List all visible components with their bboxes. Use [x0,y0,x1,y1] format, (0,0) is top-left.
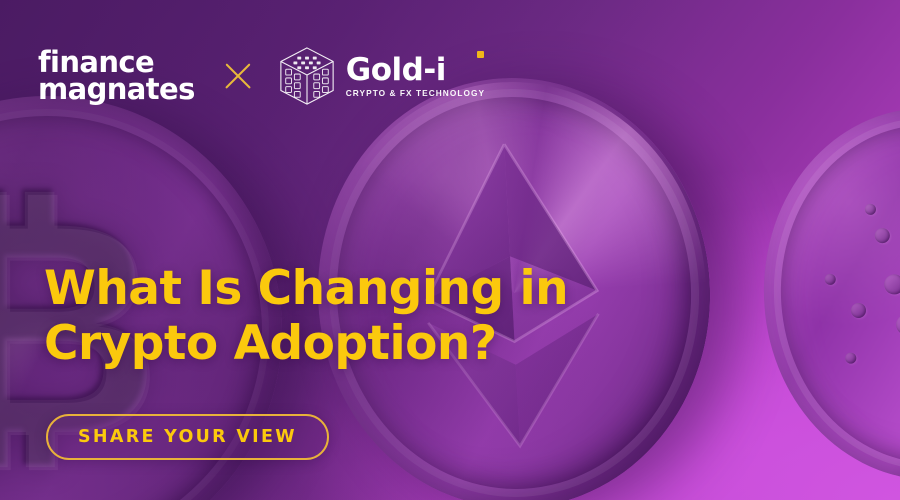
promo-banner: ₿ [0,0,900,500]
x-separator-icon [221,59,255,93]
logo-lockup: finance magnates [38,44,485,108]
cardano-dot [896,314,900,335]
finance-magnates-logo[interactable]: finance magnates [38,49,195,103]
goldi-logo[interactable]: Gold-i CRYPTO & FX TECHNOLOGY [277,45,485,107]
cardano-dot [824,274,836,286]
headline-line-1: What Is Changing in [44,262,664,317]
cardano-symbol-icon [801,157,900,430]
cardano-coin [751,97,900,491]
goldi-wordmark: Gold-i [346,55,485,86]
cardano-dot [845,352,857,364]
cardano-dot [874,228,890,244]
cardano-dot [865,204,877,216]
goldi-tagline: CRYPTO & FX TECHNOLOGY [346,88,485,98]
goldi-text-block: Gold-i CRYPTO & FX TECHNOLOGY [346,55,485,98]
cardano-dot [883,273,900,294]
share-your-view-button[interactable]: SHARE YOUR VIEW [46,414,329,460]
goldi-wordmark-text: Gold-i [346,52,446,88]
page-title: What Is Changing in Crypto Adoption? [44,262,664,371]
cube-grid-icon [277,45,337,107]
fm-logo-line2: magnates [38,76,195,103]
headline-line-2: Crypto Adoption? [44,317,664,372]
goldi-i-dot-icon [477,51,484,58]
cardano-dot [851,302,867,318]
